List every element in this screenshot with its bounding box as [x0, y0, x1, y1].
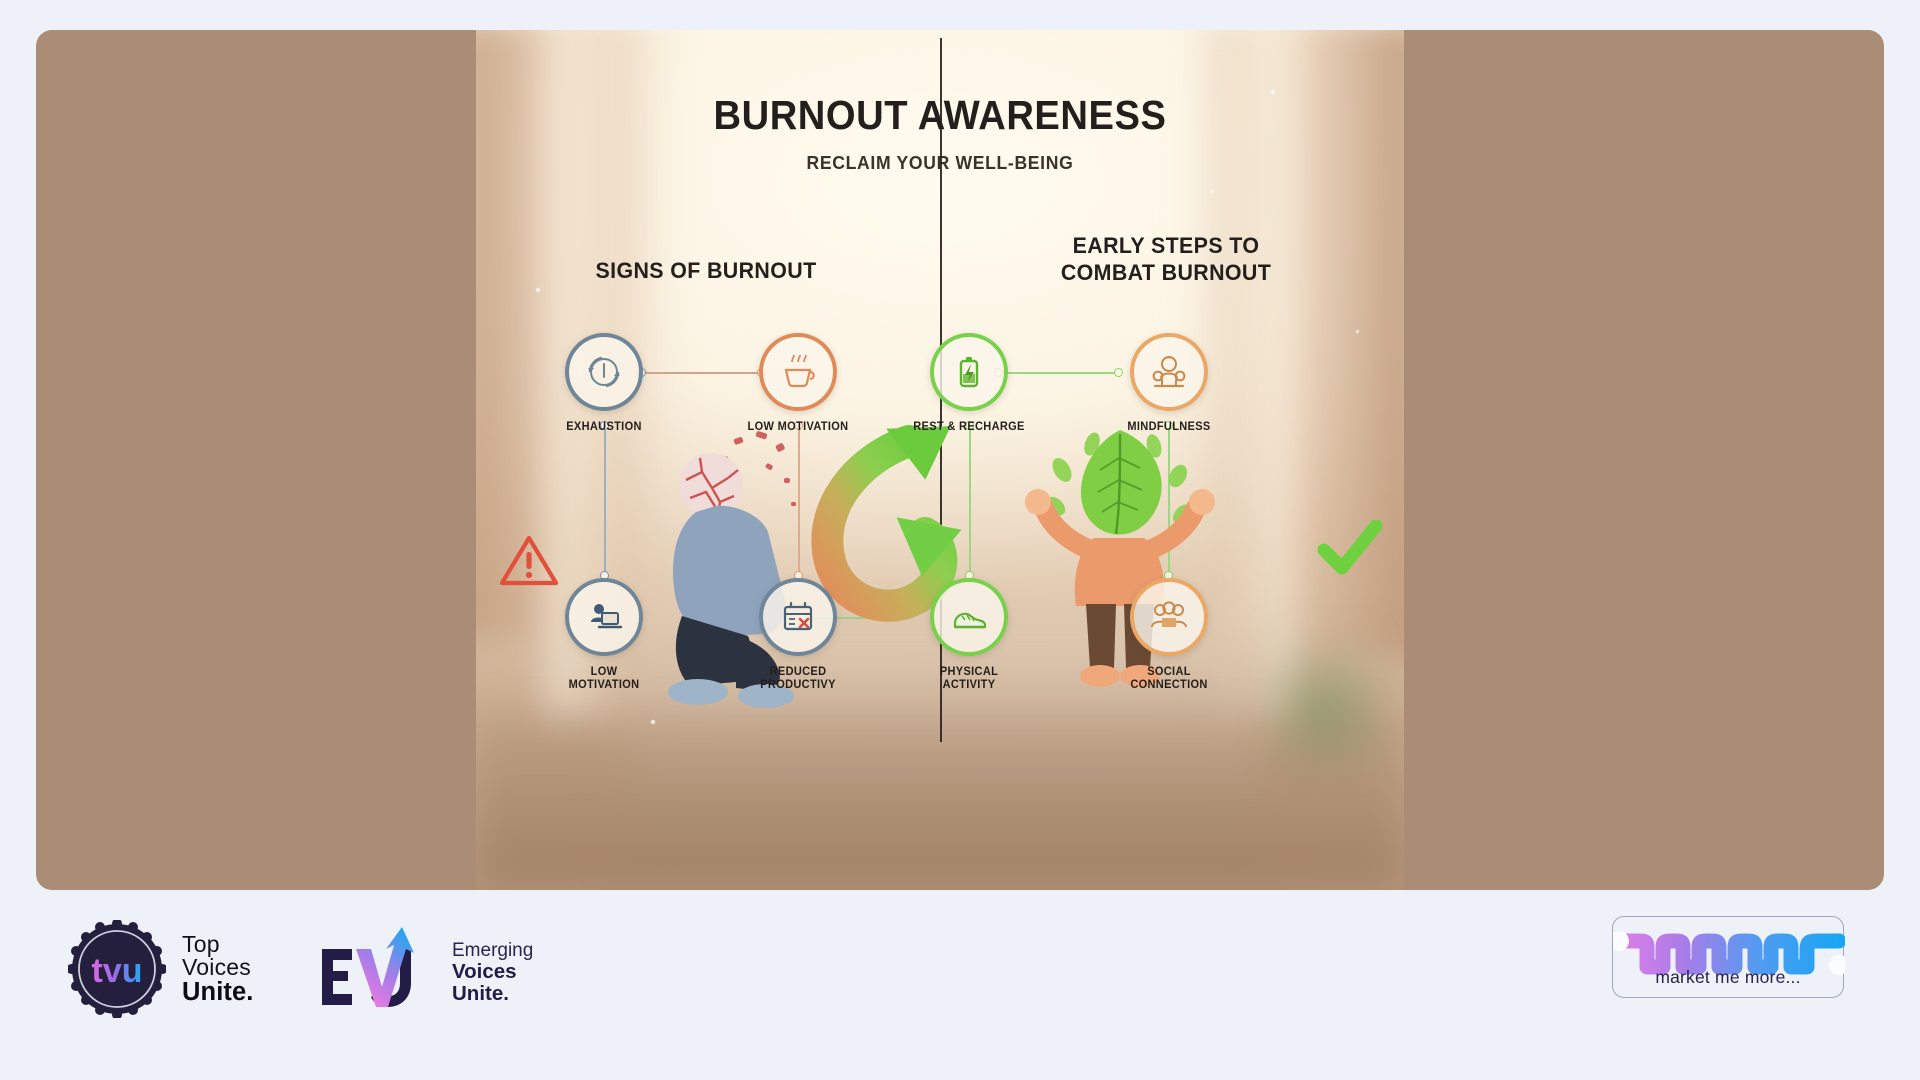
step-node-physical-activity[interactable]: PHYSICAL ACTIVITY: [904, 578, 1034, 691]
sparkle-dot: [1211, 190, 1214, 193]
sign-label: REDUCED PRODUCTIVY: [736, 665, 860, 691]
section-title-steps: EARLY STEPS TO COMBAT BURNOUT: [976, 233, 1356, 286]
tvu-line-3: Unite.: [182, 979, 253, 1005]
sign-label-line2: PRODUCTIVY: [760, 678, 836, 691]
evu-line-2: Voices: [452, 961, 533, 983]
evu-arrow-icon: [320, 925, 440, 1020]
infographic-page: BURNOUT AWARENESS RECLAIM YOUR WELL-BEIN…: [0, 0, 1920, 1080]
sparkle-dot: [651, 720, 655, 724]
battery-charging-icon: [930, 333, 1008, 411]
step-label: REST & RECHARGE: [907, 420, 1031, 433]
section-title-steps-line2: COMBAT BURNOUT: [1061, 260, 1271, 285]
sparkle-dot: [1356, 330, 1359, 333]
background-plant: [1266, 620, 1386, 770]
sign-label-line1: LOW: [591, 665, 618, 678]
sign-node-low-motivation-top[interactable]: LOW MOTIVATION: [733, 333, 863, 433]
green-check-icon: [1316, 520, 1382, 583]
laptop-worker-icon: [565, 578, 643, 656]
logo-market-me-more[interactable]: market me more...: [1612, 916, 1844, 998]
step-label: SOCIAL CONNECTION: [1107, 665, 1231, 691]
group-people-icon: [1130, 578, 1208, 656]
sign-label: LOW MOTIVATION: [736, 420, 860, 433]
sign-node-exhaustion[interactable]: EXHAUSTION: [539, 333, 669, 433]
sign-node-low-motivation-bottom[interactable]: LOW MOTIVATION: [539, 578, 669, 691]
coffee-cup-icon: [759, 333, 837, 411]
step-label-line1: PHYSICAL: [940, 665, 998, 678]
step-label-line2: CONNECTION: [1130, 678, 1207, 691]
media-card: BURNOUT AWARENESS RECLAIM YOUR WELL-BEIN…: [36, 30, 1884, 890]
mmm-label: market me more...: [1613, 967, 1843, 988]
evu-line-1: Emerging: [452, 941, 533, 961]
tvu-line-2: Voices: [182, 956, 253, 979]
clock-icon: [565, 333, 643, 411]
tvu-wordmark: tvu: [92, 952, 143, 990]
step-label-line1: SOCIAL: [1147, 665, 1191, 678]
sign-label-line1: REDUCED: [770, 665, 827, 678]
running-shoe-icon: [930, 578, 1008, 656]
step-node-social-connection[interactable]: SOCIAL CONNECTION: [1104, 578, 1234, 691]
connector-line: [604, 425, 606, 575]
sign-label: LOW MOTIVATION: [542, 665, 666, 691]
tvu-line-1: Top: [182, 933, 253, 956]
step-node-rest-recharge[interactable]: REST & RECHARGE: [904, 333, 1034, 433]
step-node-mindfulness[interactable]: MINDFULNESS: [1104, 333, 1234, 433]
section-title-signs: SIGNS OF BURNOUT: [516, 258, 896, 285]
section-title-steps-line1: EARLY STEPS TO: [1073, 233, 1260, 258]
meditation-person-icon: [1130, 333, 1208, 411]
step-label-line2: ACTIVITY: [943, 678, 996, 691]
tvu-badge-icon: tvu: [68, 920, 166, 1018]
calendar-cross-icon: [759, 578, 837, 656]
logo-top-voices-unite[interactable]: tvu Top Voices Unite.: [68, 920, 253, 1018]
sign-label: EXHAUSTION: [542, 420, 666, 433]
sign-node-reduced-productivity[interactable]: REDUCED PRODUCTIVY: [733, 578, 863, 691]
infographic-canvas: BURNOUT AWARENESS RECLAIM YOUR WELL-BEIN…: [476, 30, 1404, 890]
step-label: PHYSICAL ACTIVITY: [907, 665, 1031, 691]
sign-label-line2: MOTIVATION: [569, 678, 640, 691]
logo-emerging-voices-unite[interactable]: Emerging Voices Unite.: [320, 925, 533, 1020]
evu-wordmark-text: Emerging Voices Unite.: [452, 941, 533, 1005]
evu-line-3: Unite.: [452, 983, 533, 1005]
tvu-wordmark-text: Top Voices Unite.: [182, 933, 253, 1006]
sparkle-dot: [536, 288, 540, 292]
step-label: MINDFULNESS: [1107, 420, 1231, 433]
